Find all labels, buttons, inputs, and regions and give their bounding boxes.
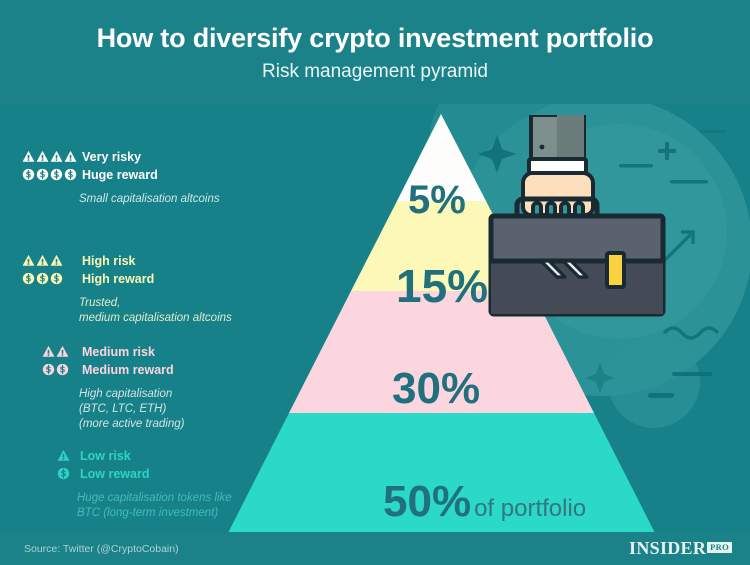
pyramid-label-50: 50% xyxy=(383,477,471,526)
header-bar: How to diversify crypto investment portf… xyxy=(0,0,750,104)
briefcase-lock xyxy=(607,253,624,287)
risk-icon-group xyxy=(57,449,78,462)
legend-reward-row: S S Medium reward xyxy=(42,361,184,378)
reward-icon-group: S S S xyxy=(22,272,80,285)
legend-risk-label: Low risk xyxy=(80,449,131,463)
legend-risk-row: Medium risk xyxy=(42,343,184,360)
suit-sleeve-shade xyxy=(557,115,584,163)
legend-description: High capitalisation (BTC, LTC, ETH) (mor… xyxy=(79,387,184,432)
page-subtitle: Risk management pyramid xyxy=(0,61,750,83)
legend-description-line: High capitalisation xyxy=(79,387,184,402)
dollar-coin-icon: S xyxy=(57,467,70,480)
dollar-coin-icon: S xyxy=(64,168,77,181)
legend-description-line: BTC (long-term investment) xyxy=(77,506,232,521)
pyramid-label-5: 5% xyxy=(408,180,466,220)
legend-reward-row: S S S S Huge reward xyxy=(22,166,220,183)
legend-reward-row: S Low reward xyxy=(57,465,232,482)
legend-description: Small capitalisation altcoins xyxy=(79,192,220,207)
brand-logo-text: INSIDER xyxy=(629,539,706,557)
risk-icon-group xyxy=(22,254,80,267)
legend-block-very-risky[interactable]: Very risky S S S S Huge reward Small cap… xyxy=(22,148,220,207)
legend-reward-label: Huge reward xyxy=(82,168,158,182)
legend-block-low-risk[interactable]: Low risk S Low reward Huge capitalisatio… xyxy=(57,447,232,521)
sleeve-button xyxy=(540,145,545,150)
dollar-coin-icon: S xyxy=(50,168,63,181)
pyramid-label-suffix: of portfolio xyxy=(474,495,586,522)
pyramid-label-30: 30% xyxy=(392,367,480,411)
warning-triangle-icon xyxy=(57,449,70,462)
legend-description-line: medium capitalisation altcoins xyxy=(79,311,232,326)
brand-logo-badge: PRO xyxy=(707,542,732,553)
warning-triangle-icon xyxy=(22,254,35,267)
warning-triangle-icon xyxy=(64,150,77,163)
legend-risk-label: Medium risk xyxy=(82,345,155,359)
legend-reward-row: S S S High reward xyxy=(22,270,232,287)
warning-triangle-icon xyxy=(50,150,63,163)
legend-risk-row: Very risky xyxy=(22,148,220,165)
warning-triangle-icon xyxy=(36,254,49,267)
legend-description: Trusted, medium capitalisation altcoins xyxy=(79,296,232,326)
reward-icon-group: S xyxy=(57,467,78,480)
pyramid-label-15: 15% xyxy=(396,263,488,309)
legend-reward-label: High reward xyxy=(82,272,154,286)
legend-risk-label: Very risky xyxy=(82,150,141,164)
brand-logo[interactable]: INSIDER PRO xyxy=(629,539,732,557)
warning-triangle-icon xyxy=(42,345,55,358)
source-credit: Source: Twitter (@CryptoCobain) xyxy=(24,543,179,555)
warning-triangle-icon xyxy=(36,150,49,163)
shirt-cuff xyxy=(529,159,586,173)
legend-risk-row: Low risk xyxy=(57,447,232,464)
footer-bar: Source: Twitter (@CryptoCobain) INSIDER … xyxy=(0,532,750,565)
reward-icon-group: S S S S xyxy=(22,168,80,181)
legend-reward-label: Medium reward xyxy=(82,363,174,377)
legend-description-line: (BTC, LTC, ETH) xyxy=(79,402,184,417)
risk-icon-group xyxy=(22,150,80,163)
dollar-coin-icon: S xyxy=(22,272,35,285)
dollar-coin-icon: S xyxy=(36,168,49,181)
infographic-canvas: 5% 15% 30% 50%of portfolio How to divers… xyxy=(0,0,750,565)
risk-icon-group xyxy=(42,345,80,358)
reward-icon-group: S S xyxy=(42,363,80,376)
legend-risk-row: High risk xyxy=(22,252,232,269)
legend-block-medium-risk[interactable]: Medium risk S S Medium reward High capit… xyxy=(42,343,184,432)
dollar-coin-icon: S xyxy=(42,363,55,376)
page-title: How to diversify crypto investment portf… xyxy=(0,23,750,54)
dollar-coin-icon: S xyxy=(22,168,35,181)
warning-triangle-icon xyxy=(50,254,63,267)
legend-description-line: Trusted, xyxy=(79,296,232,311)
dollar-coin-icon: S xyxy=(50,272,63,285)
dollar-coin-icon: S xyxy=(36,272,49,285)
legend-risk-label: High risk xyxy=(82,254,136,268)
legend-description-line: Huge capitalisation tokens like xyxy=(77,491,232,506)
legend-description-line: (more active trading) xyxy=(79,417,184,432)
hand-holding-briefcase-illustration xyxy=(487,115,677,330)
warning-triangle-icon xyxy=(22,150,35,163)
dollar-coin-icon: S xyxy=(56,363,69,376)
legend-block-high-risk[interactable]: High risk S S S High reward Trusted, med… xyxy=(22,252,232,326)
legend-reward-label: Low reward xyxy=(80,467,149,481)
hand xyxy=(523,173,593,215)
pyramid-label-50-group: 50%of portfolio xyxy=(383,480,586,524)
legend-description: Huge capitalisation tokens like BTC (lon… xyxy=(77,491,232,521)
warning-triangle-icon xyxy=(56,345,69,358)
